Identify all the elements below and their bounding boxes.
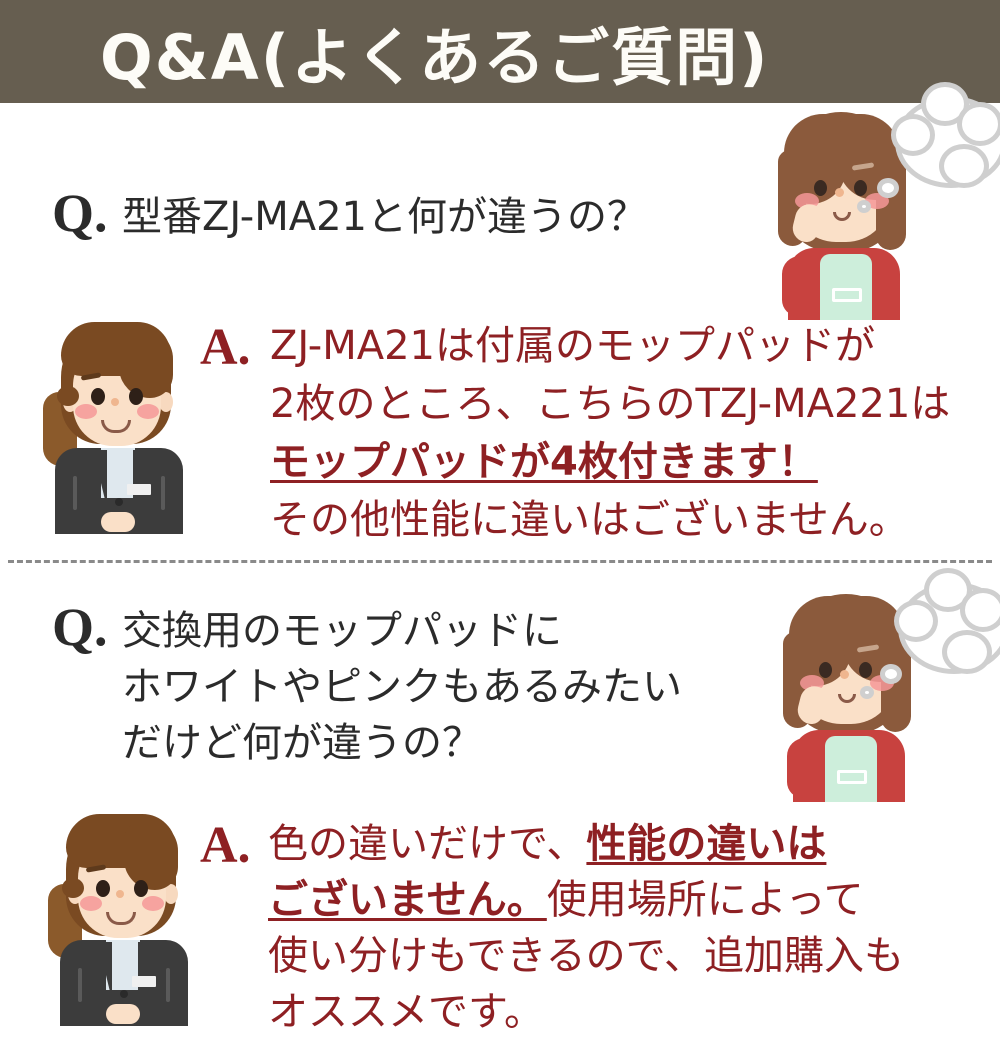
cheek-right <box>137 404 159 419</box>
nose <box>111 398 119 406</box>
a2-line-3: 使い分けもできるので、追加購入も <box>268 930 904 982</box>
sleeve-seam-left <box>73 476 77 510</box>
a1-l1-seg-0: ZJ-MA21は付属のモップパッドが <box>270 323 875 369</box>
arm-left <box>787 738 821 798</box>
qa-infographic-page: Q&A(よくあるご質問) Q. 型番ZJ-MA21と何が違うの？ <box>0 0 1000 1060</box>
a2-l3-seg-0: 使い分けもできるので、追加購入も <box>268 933 904 979</box>
q2-marker: Q. <box>52 600 108 654</box>
section-divider <box>8 560 992 563</box>
a2-line-4: オススメです。 <box>268 986 544 1038</box>
thought-bubble-2 <box>898 582 1000 712</box>
a1-l3-seg-0: モップパッドが4枚付きます！ <box>270 439 818 485</box>
lapel-right <box>138 942 152 1000</box>
header-banner: Q&A(よくあるご質問) <box>0 0 1000 103</box>
lapel-left <box>98 942 112 1000</box>
eye-left <box>96 880 110 897</box>
a1-marker: A. <box>200 322 251 374</box>
apron-pocket <box>837 770 867 784</box>
bubble-small-2 <box>857 200 871 213</box>
a1-line-2: 2枚のところ、こちらのTZJ-MA221は <box>270 378 950 430</box>
a2-line-2: ございません。使用場所によって <box>268 874 864 926</box>
q1-line-1: 型番ZJ-MA21と何が違うの？ <box>122 192 647 243</box>
page-title: Q&A(よくあるご質問) <box>100 7 769 97</box>
a2-l4-seg-0: オススメです。 <box>268 989 544 1035</box>
eye-right <box>129 388 143 405</box>
a2-l2-seg-1: 使用場所によって <box>547 877 864 923</box>
nose <box>835 188 844 197</box>
bubble-lobe-d <box>942 630 992 674</box>
a2-l1-seg-1: 性能の違いは <box>586 821 826 867</box>
apron-pocket <box>832 288 862 302</box>
lapel-left <box>93 450 107 508</box>
hair-fringe-side <box>119 328 173 398</box>
a1-line-4: その他性能に違いはございません。 <box>270 494 909 546</box>
eye-left <box>819 662 832 678</box>
bubble-lobe-d <box>939 144 989 188</box>
eye-right <box>854 180 867 196</box>
apron <box>820 254 872 320</box>
staff-illustration-2 <box>40 812 210 1027</box>
name-badge <box>132 976 156 987</box>
q1-marker: Q. <box>52 186 108 240</box>
lapel-right <box>133 450 147 508</box>
a2-l2-seg-0: ございません。 <box>268 877 547 923</box>
apron <box>825 736 877 802</box>
bubble-small-2 <box>860 686 874 699</box>
bubble-lobe-c <box>960 588 1000 632</box>
cheek-left <box>75 404 97 419</box>
bubble-small-1 <box>880 664 902 684</box>
eye-right <box>134 880 148 897</box>
a1-line-3: モップパッドが4枚付きます！ <box>270 436 818 488</box>
suit-button <box>115 498 123 506</box>
cheek-right <box>142 896 164 911</box>
arm-left <box>782 256 816 316</box>
q2-line-1: 交換用のモップパッドに <box>122 606 562 657</box>
staff-illustration-1 <box>35 320 205 535</box>
cheek-left <box>80 896 102 911</box>
sleeve-seam-left <box>78 968 82 1002</box>
eye-left <box>91 388 105 405</box>
a1-line-1: ZJ-MA21は付属のモップパッドが <box>270 320 875 372</box>
eye-left <box>814 180 827 196</box>
hair-fringe-side <box>124 820 178 890</box>
a1-l2-seg-0: 2枚のところ、こちらのTZJ-MA221は <box>270 381 950 427</box>
q2-line-3: だけど何が違うの？ <box>122 718 482 769</box>
hands-clasped <box>101 512 135 532</box>
nose <box>840 670 849 679</box>
bubble-small-1 <box>877 178 899 198</box>
a2-l1-seg-0: 色の違いだけで、 <box>268 821 586 867</box>
a1-l4-seg-0: その他性能に違いはございません。 <box>270 497 909 543</box>
sleeve-seam-right <box>161 476 165 510</box>
q2-line-2: ホワイトやピンクもあるみたい <box>122 662 682 713</box>
name-badge <box>127 484 151 495</box>
suit-button <box>120 990 128 998</box>
hands-clasped <box>106 1004 140 1024</box>
ponytail-tie <box>62 878 84 898</box>
thought-bubble-1 <box>895 96 1000 226</box>
sleeve-seam-right <box>166 968 170 1002</box>
ponytail-tie <box>57 386 79 406</box>
a2-line-1: 色の違いだけで、性能の違いは <box>268 818 826 870</box>
bubble-lobe-c <box>957 102 1000 146</box>
eye-right <box>859 662 872 678</box>
nose <box>116 890 124 898</box>
